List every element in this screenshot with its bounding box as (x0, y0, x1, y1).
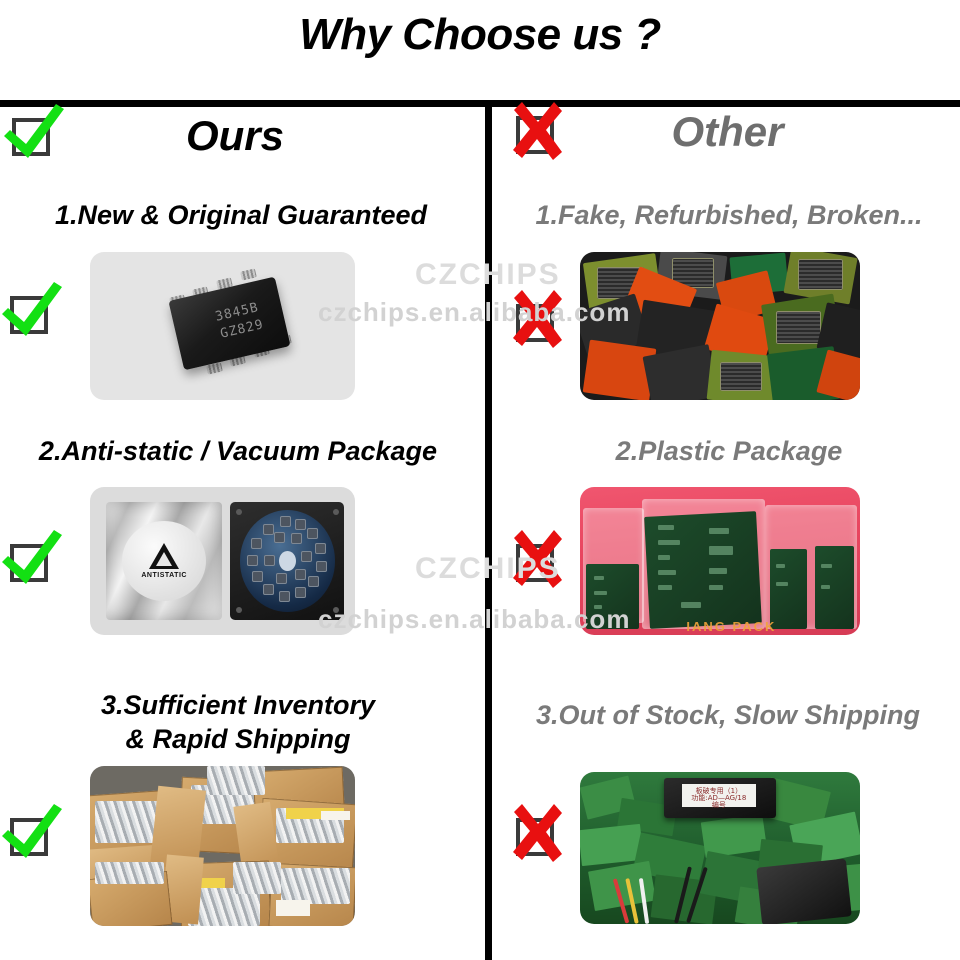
row-3-left-caption-line-1: 3.Sufficient Inventory (0, 690, 476, 720)
cross-glyph (504, 800, 572, 866)
esd-label-text: ANTISTATIC (141, 572, 187, 579)
check-mark-icon-row-1 (6, 290, 52, 336)
row-1-left-caption: 1.New & Original Guaranteed (6, 200, 476, 230)
row-2-right-caption: 2.Plastic Package (498, 436, 960, 466)
row-2-right-photo: IANG PACK (580, 487, 860, 635)
cross-glyph (504, 526, 572, 592)
reel-hub (279, 551, 296, 571)
module-label: 板破专用（1） 功能:AD—AG/18 编号 (682, 784, 756, 807)
row-3-right-caption: 3.Out of Stock, Slow Shipping (496, 700, 960, 730)
module-label-line-3: 编号 (682, 800, 756, 810)
check-glyph (0, 526, 66, 592)
row-2-left-caption: 2.Anti-static / Vacuum Package (0, 436, 476, 466)
row-3-left-photo (90, 766, 355, 926)
antistatic-label-disc: ANTISTATIC (122, 521, 206, 602)
pack-watermark-text: IANG PACK (686, 619, 776, 634)
check-glyph (0, 100, 68, 166)
row-3-left-caption-line-2: & Rapid Shipping (0, 724, 476, 754)
black-module: 板破专用（1） 功能:AD—AG/18 编号 (664, 778, 776, 818)
row-2-left-photo: ANTISTATIC (90, 487, 355, 635)
why-choose-us-infographic: Why Choose us ? Ours Other 1.New & Origi… (0, 0, 960, 960)
row-3-right-photo: 板破专用（1） 功能:AD—AG/18 编号 (580, 772, 860, 924)
antistatic-bag: ANTISTATIC (106, 502, 223, 620)
chip-body (168, 276, 290, 370)
cross-mark-icon-header (512, 110, 558, 156)
column-heading-ours: Ours (0, 112, 470, 160)
check-mark-icon-header (8, 112, 54, 158)
esd-warning-icon (149, 543, 179, 569)
tape-reel (240, 510, 336, 612)
black-box-item (756, 859, 851, 924)
header-divider (0, 100, 960, 107)
row-1-right-caption: 1.Fake, Refurbished, Broken... (498, 200, 960, 230)
check-glyph (0, 800, 66, 866)
check-mark-icon-row-3 (6, 812, 52, 858)
cross-glyph (504, 98, 572, 164)
cross-mark-icon-row-1 (512, 298, 558, 344)
check-mark-icon-row-2 (6, 538, 52, 584)
cross-glyph (504, 286, 572, 352)
column-divider (485, 104, 492, 960)
check-glyph (0, 278, 66, 344)
component-tray (230, 502, 344, 620)
row-1-right-photo (580, 252, 860, 400)
cross-mark-icon-row-2 (512, 538, 558, 584)
cross-mark-icon-row-3 (512, 812, 558, 858)
row-1-left-photo: 3845B GZ829 (90, 252, 355, 400)
page-title: Why Choose us ? (0, 10, 960, 60)
